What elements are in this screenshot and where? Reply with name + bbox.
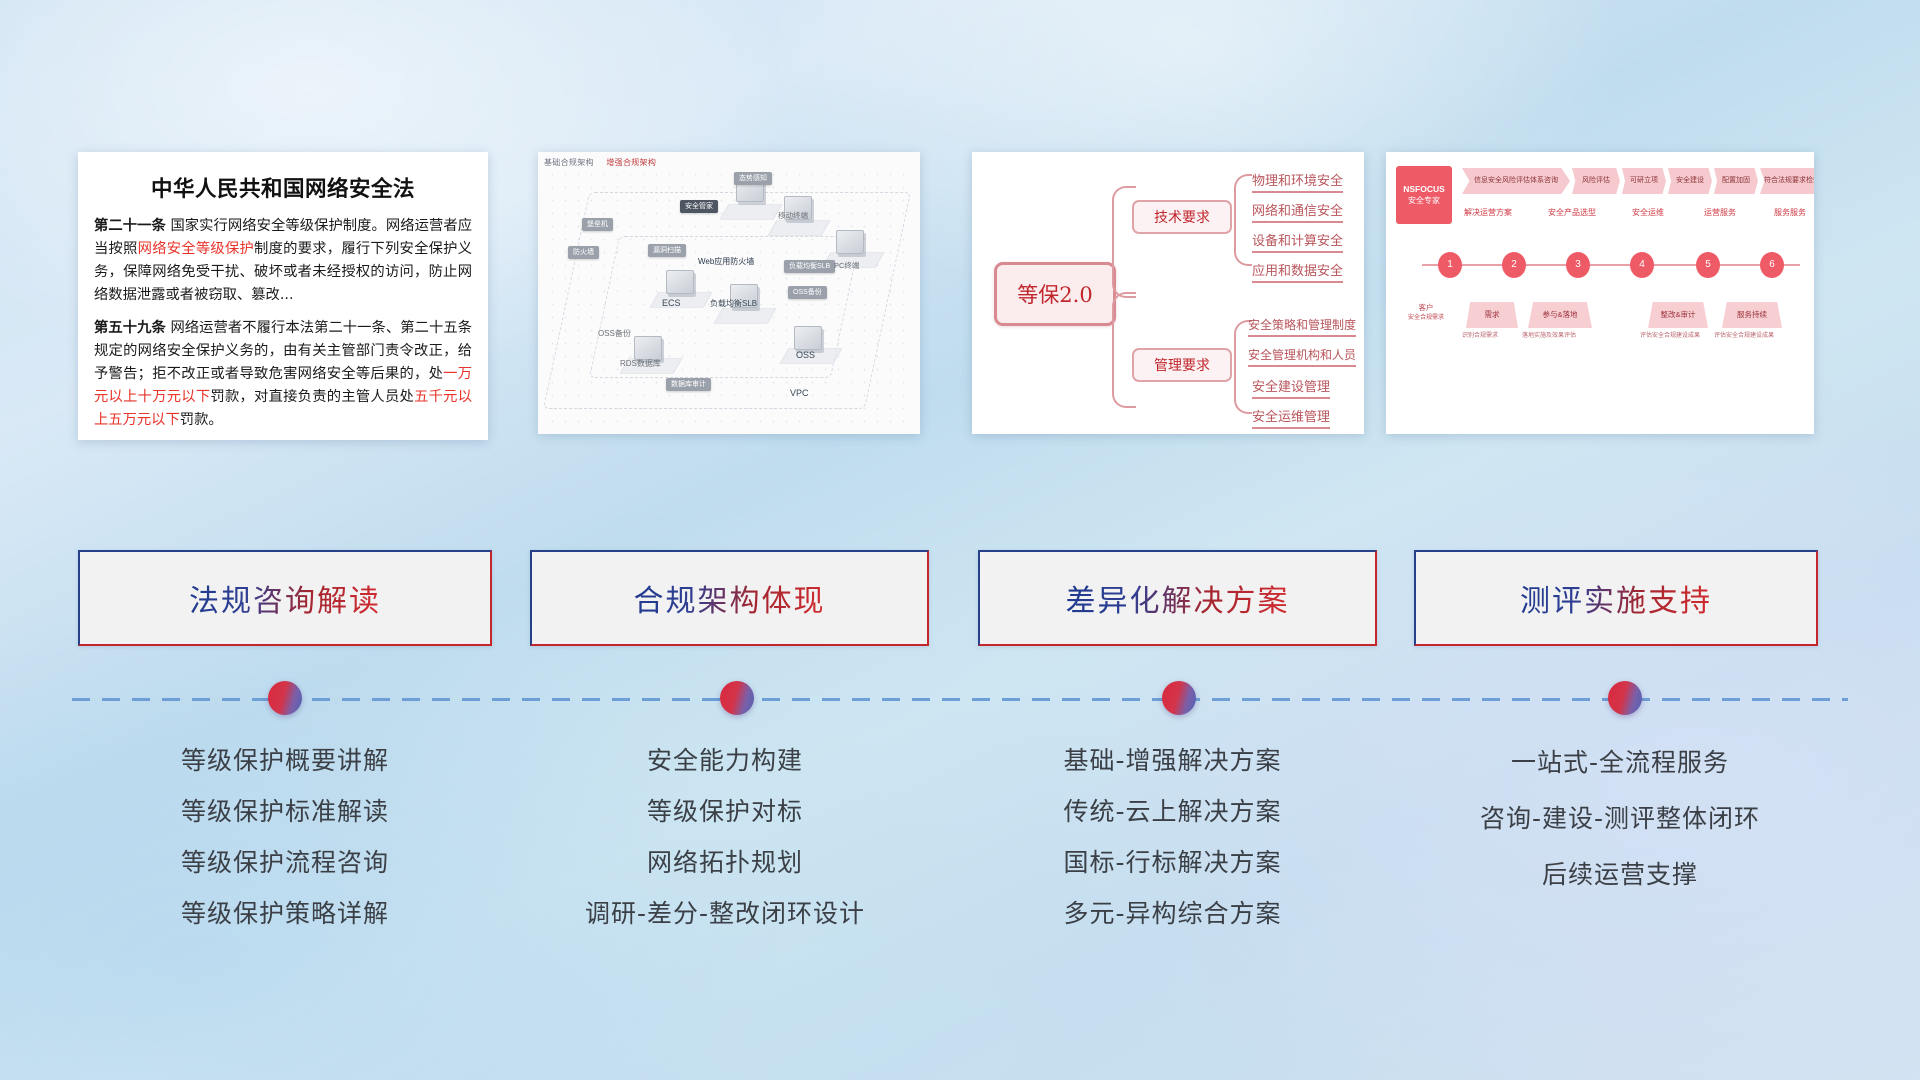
timeline-dot-3[interactable]: [1162, 681, 1196, 715]
tab-assessment-support[interactable]: 测评实施支持: [1414, 550, 1818, 646]
list-item: 一站式-全流程服务: [1390, 735, 1850, 791]
node-text-mobile-terminal: 移动终端: [778, 210, 808, 221]
list-item: 等级保护流程咨询: [60, 837, 510, 888]
node-text-ecs: ECS: [662, 298, 681, 308]
list-item: 调研-差分-整改闭环设计: [500, 888, 950, 939]
law-article-59-end: 罚款。: [180, 412, 223, 428]
mindmap-leaf-security-policy[interactable]: 安全策略和管理制度: [1248, 316, 1356, 337]
nsfocus-canvas: NSFOCUS 安全专家 信息安全风险评估体系咨询 风险评估 可研立项 安全建设…: [1386, 152, 1814, 434]
chevron-1: 信息安全风险评估体系咨询: [1462, 168, 1570, 194]
node-icon-4: [666, 270, 694, 294]
list-item: 网络拓扑规划: [500, 837, 950, 888]
mindmap-leaf-device-compute[interactable]: 设备和计算安全: [1252, 230, 1343, 253]
node-label-anti-ddos-ip: OSS备份: [788, 286, 827, 299]
node-label-situation-awareness: 态势感知: [734, 172, 772, 185]
customer-subtext: 安全合规需求: [1400, 313, 1452, 324]
chevron-3: 可研立项: [1622, 168, 1666, 194]
node-text-oss-backup: OSS备份: [598, 328, 631, 339]
action-demand: 需求: [1466, 302, 1518, 328]
node-label-vuln-scan: 漏洞扫描: [648, 244, 686, 257]
node-icon-7: [634, 336, 662, 360]
tab-label-4: 测评实施支持: [1520, 576, 1712, 620]
law-article-21-highlight: 网络安全等级保护: [138, 241, 254, 257]
node-label-firewall: 防火墙: [568, 246, 599, 259]
law-article-21-label: 第二十一条: [94, 218, 166, 234]
card-mindmap[interactable]: 等保2.0 技术要求 管理要求 物理和环境安全 网络和通信安全 设备和计算安全 …: [972, 152, 1364, 434]
node-text-vpc: VPC: [790, 388, 809, 398]
law-body: 中华人民共和国网络安全法 第二十一条 国家实行网络安全等级保护制度。网络运营者应…: [78, 152, 488, 440]
timeline-dot-4[interactable]: [1608, 681, 1642, 715]
tab-compliance-architecture[interactable]: 合规架构体现: [530, 550, 929, 646]
node-label-db-audit: 数据库审计: [666, 378, 711, 391]
slide-canvas: 中华人民共和国网络安全法 第二十一条 国家实行网络安全等级保护制度。网络运营者应…: [0, 0, 1920, 1080]
service-2: 安全产品选型: [1548, 204, 1596, 222]
list-item: 安全能力构建: [500, 735, 950, 786]
chevron-6: 符合法规要求检查: [1760, 168, 1814, 194]
server-plate-5: [714, 308, 777, 323]
timeline-step-4[interactable]: 4: [1630, 252, 1654, 278]
node-icon-6: [794, 326, 822, 350]
mindmap-branch-management[interactable]: 管理要求: [1132, 348, 1232, 382]
list-item: 等级保护对标: [500, 786, 950, 837]
mindmap-leaf-app-data[interactable]: 应用和数据安全: [1252, 260, 1343, 283]
card-service-timeline[interactable]: NSFOCUS 安全专家 信息安全风险评估体系咨询 风险评估 可研立项 安全建设…: [1386, 152, 1814, 434]
chevron-2: 风险评估: [1572, 168, 1620, 194]
tab-label-1: 法规咨询解读: [189, 576, 381, 620]
feature-column-2: 安全能力构建 等级保护对标 网络拓扑规划 调研-差分-整改闭环设计: [500, 735, 950, 939]
service-4: 运营服务: [1704, 204, 1736, 222]
mindmap-root-node[interactable]: 等保2.0: [994, 262, 1116, 326]
action-rectify-sub: 评估安全合规建设成果: [1640, 330, 1700, 339]
timeline-step-3[interactable]: 3: [1566, 252, 1590, 278]
feature-column-4: 一站式-全流程服务 咨询-建设-测评整体闭环 后续运营支撑: [1390, 735, 1850, 903]
tab-label-2: 合规架构体现: [634, 576, 826, 620]
action-service-sub: 评估安全合规建设成果: [1714, 330, 1774, 339]
list-item: 后续运营支撑: [1390, 847, 1850, 903]
mindmap-canvas: 等保2.0 技术要求 管理要求 物理和环境安全 网络和通信安全 设备和计算安全 …: [972, 152, 1364, 434]
mindmap-leaf-physical-env[interactable]: 物理和环境安全: [1252, 170, 1343, 193]
tag-enhanced-compliance: 增强合规架构: [606, 158, 656, 167]
tab-differentiated-solution[interactable]: 差异化解决方案: [978, 550, 1377, 646]
action-demand-sub: 识别合规需求: [1462, 330, 1498, 339]
action-participate: 参与&落地: [1528, 302, 1592, 328]
feature-column-1: 等级保护概要讲解 等级保护标准解读 等级保护流程咨询 等级保护策略详解: [60, 735, 510, 939]
node-label-bastion-host: 堡垒机: [582, 218, 613, 231]
node-label-security-butler: 安全管家: [680, 200, 718, 213]
law-article-59-label: 第五十九条: [94, 320, 166, 336]
node-icon-3: [836, 230, 864, 254]
list-item: 等级保护标准解读: [60, 786, 510, 837]
mindmap-connector-technical: [1234, 174, 1252, 266]
customer-block: 客户 安全合规需求: [1400, 302, 1452, 324]
node-text-load-balancer: 负载均衡SLB: [710, 298, 757, 309]
card-law-text[interactable]: 中华人民共和国网络安全法 第二十一条 国家实行网络安全等级保护制度。网络运营者应…: [78, 152, 488, 440]
list-item: 咨询-建设-测评整体闭环: [1390, 791, 1850, 847]
tab-label-3: 差异化解决方案: [1066, 576, 1290, 620]
timeline-step-2[interactable]: 2: [1502, 252, 1526, 278]
law-title: 中华人民共和国网络安全法: [94, 172, 472, 203]
node-text-oss: OSS: [796, 350, 815, 360]
architecture-canvas: 基础合规架构 增强合规架构 安全: [538, 152, 920, 434]
chevron-4: 安全建设: [1668, 168, 1712, 194]
service-1: 解决运营方案: [1464, 204, 1512, 222]
timeline-step-5[interactable]: 5: [1696, 252, 1720, 278]
list-item: 等级保护概要讲解: [60, 735, 510, 786]
list-item: 基础-增强解决方案: [945, 735, 1400, 786]
feature-lists: 等级保护概要讲解 等级保护标准解读 等级保护流程咨询 等级保护策略详解 安全能力…: [0, 735, 1920, 975]
mindmap-leaf-security-org[interactable]: 安全管理机构和人员: [1248, 346, 1356, 367]
chevron-5: 配置加固: [1714, 168, 1758, 194]
action-rectify: 整改&审计: [1648, 302, 1708, 328]
action-participate-sub: 落地实施及效果评估: [1522, 330, 1576, 339]
feature-column-3: 基础-增强解决方案 传统-云上解决方案 国标-行标解决方案 多元-异构综合方案: [945, 735, 1400, 939]
mindmap-leaf-security-ops[interactable]: 安全运维管理: [1252, 406, 1330, 429]
list-item: 多元-异构综合方案: [945, 888, 1400, 939]
timeline-dot-1[interactable]: [268, 681, 302, 715]
architecture-tags: 基础合规架构 增强合规架构: [544, 157, 656, 168]
card-architecture-diagram[interactable]: 基础合规架构 增强合规架构 安全: [538, 152, 920, 434]
node-text-pc-terminal: PC终端: [834, 260, 859, 271]
timeline-dot-2[interactable]: [720, 681, 754, 715]
timeline-step-6[interactable]: 6: [1760, 252, 1784, 278]
law-article-59-mid: 罚款，对直接负责的主管人员处: [210, 389, 414, 405]
server-plate-4: [650, 292, 713, 307]
mindmap-leaf-security-build[interactable]: 安全建设管理: [1252, 376, 1330, 399]
tag-basic-compliance: 基础合规架构: [544, 158, 594, 167]
service-3: 安全运维: [1632, 204, 1664, 222]
law-article-21: 第二十一条 国家实行网络安全等级保护制度。网络运营者应当按照网络安全等级保护制度…: [94, 215, 472, 308]
timeline-track: [72, 697, 1848, 701]
node-text-rds: RDS数据库: [620, 358, 661, 369]
tab-row: 法规咨询解读 合规架构体现 差异化解决方案 测评实施支持: [0, 550, 1920, 646]
node-text-waf: Web应用防火墙: [698, 256, 754, 267]
nsfocus-timeline-axis: [1422, 264, 1800, 266]
customer-label: 客户: [1400, 302, 1452, 313]
timeline-step-1[interactable]: 1: [1438, 252, 1462, 278]
mindmap-branch-technical[interactable]: 技术要求: [1132, 200, 1232, 234]
list-item: 国标-行标解决方案: [945, 837, 1400, 888]
node-label-ca-cert: 负载均衡SLB: [784, 260, 835, 273]
server-plate-2: [768, 220, 831, 235]
server-plate-1: [720, 204, 783, 219]
service-5: 服务服务: [1774, 204, 1806, 222]
list-item: 等级保护策略详解: [60, 888, 510, 939]
action-service: 服务持续: [1722, 302, 1782, 328]
nsfocus-service-row: 解决运营方案 安全产品选型 安全运维 运营服务 服务服务: [1464, 204, 1806, 224]
list-item: 传统-云上解决方案: [945, 786, 1400, 837]
law-article-59: 第五十九条 网络运营者不履行本法第二十一条、第二十五条规定的网络安全保护义务的，…: [94, 317, 472, 433]
mindmap-leaf-network-comm[interactable]: 网络和通信安全: [1252, 200, 1343, 223]
card-row: 中华人民共和国网络安全法 第二十一条 国家实行网络安全等级保护制度。网络运营者应…: [0, 152, 1920, 442]
tab-regulation-consulting[interactable]: 法规咨询解读: [78, 550, 492, 646]
nsfocus-chevron-row: 信息安全风险评估体系咨询 风险评估 可研立项 安全建设 配置加固 符合法规要求检…: [1414, 168, 1804, 198]
